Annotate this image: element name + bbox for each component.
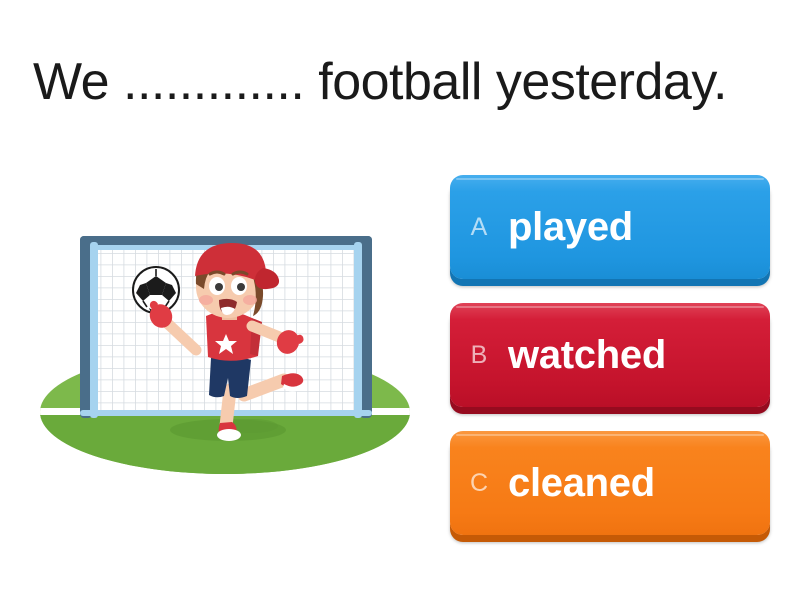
answer-option-b[interactable]: B watched [450,303,770,407]
answer-b-text: watched [508,333,666,378]
answer-a-letter: A [450,213,508,242]
answer-a-stem: play [508,205,587,249]
answer-a-suffix: ed [587,205,633,249]
answer-c-suffix: ed [609,461,655,505]
answer-b-suffix: ed [620,333,666,377]
answer-option-a[interactable]: A played [450,175,770,279]
answer-option-c[interactable]: C cleaned [450,431,770,535]
answer-c-letter: C [450,469,508,498]
answer-options-list: A played B watched C cleaned [450,175,770,559]
answer-a-text: played [508,205,633,250]
answer-c-stem: clean [508,461,609,505]
answer-b-stem: watch [508,333,620,377]
answer-c-text: cleaned [508,461,655,506]
soccer-goalkeeper-illustration [20,230,430,480]
question-text: We ............. football yesterday. [33,52,773,112]
answer-b-letter: B [450,341,508,370]
